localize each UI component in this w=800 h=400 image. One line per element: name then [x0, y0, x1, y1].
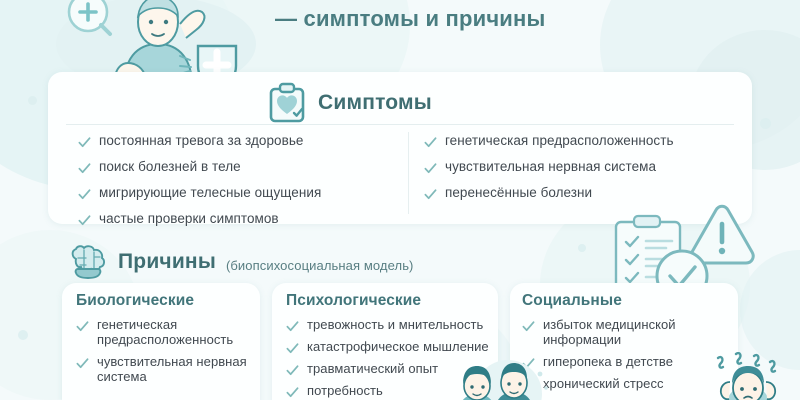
decorative-dot [28, 96, 37, 105]
list-item-label: постоянная тревога за здоровье [99, 133, 303, 149]
list-item-label: травматический опыт [307, 361, 438, 376]
causes-header: Причины (биопсихосоциальная модель) [68, 245, 414, 279]
stressed-woman-illustration [700, 352, 800, 400]
check-icon [424, 136, 437, 149]
check-icon [78, 136, 91, 149]
list-item: генетическая предрасположенность [76, 317, 256, 347]
check-icon [76, 320, 89, 333]
check-icon [286, 364, 299, 377]
list-item: перенесённые болезни [424, 185, 729, 201]
brain-icon [68, 245, 108, 279]
check-icon [76, 357, 89, 370]
symptoms-divider [66, 124, 734, 125]
list-item: генетическая предрасположенность [424, 133, 729, 149]
list-item: частые проверки симптомов [78, 211, 398, 227]
check-icon [78, 162, 91, 175]
symptoms-header: Симптомы [266, 82, 432, 124]
list-item-label: тревожность и мнительность [307, 317, 483, 332]
clipboard-heart-icon [266, 82, 308, 124]
list-item: тревожность и мнительность [286, 317, 501, 332]
column-title-biological: Биологические [76, 292, 194, 310]
list-item-label: чувствительная нервная система [445, 159, 656, 175]
check-icon [286, 342, 299, 355]
decorative-dot [578, 244, 586, 252]
list-item: чувствительная нервная система [76, 354, 256, 384]
list-item: катастрофическое мышление [286, 339, 501, 354]
decorative-dot [18, 330, 28, 340]
check-icon [424, 188, 437, 201]
symptoms-heading: Симптомы [318, 91, 432, 115]
check-icon [522, 320, 535, 333]
list-item-label: гиперопека в детстве [543, 354, 673, 369]
list-item-label: генетическая предрасположенность [445, 133, 674, 149]
column-title-psychological: Психологические [286, 292, 421, 310]
check-icon [78, 214, 91, 227]
list-item: постоянная тревога за здоровье [78, 133, 398, 149]
biological-list: генетическая предрасположенность чувстви… [76, 317, 256, 391]
check-icon [424, 162, 437, 175]
list-item-label: частые проверки симптомов [99, 211, 279, 227]
list-item-label: катастрофическое мышление [307, 339, 489, 354]
decorative-dot [760, 118, 771, 129]
causes-subheading: (биопсихосоциальная модель) [226, 258, 414, 273]
check-icon [286, 320, 299, 333]
page-title: — симптомы и причины [275, 2, 775, 36]
column-title-social: Социальные [522, 292, 622, 310]
causes-heading: Причины [118, 250, 216, 274]
symptoms-left-list: постоянная тревога за здоровье поиск бол… [78, 133, 398, 237]
symptoms-column-divider [408, 132, 409, 214]
check-icon [78, 188, 91, 201]
list-item: поиск болезней в теле [78, 159, 398, 175]
check-icon [286, 386, 299, 399]
list-item-label: хронический стресс [543, 376, 664, 391]
list-item-label: потребность [307, 383, 383, 398]
list-item: чувствительная нервная система [424, 159, 729, 175]
list-item-label: чувствительная нервная система [97, 354, 256, 384]
list-item-label: генетическая предрасположенность [97, 317, 256, 347]
list-item: мигрирующие телесные ощущения [78, 185, 398, 201]
list-item-label: перенесённые болезни [445, 185, 592, 201]
list-item: избыток медицинской информации [522, 317, 732, 347]
couple-illustration [436, 356, 556, 400]
list-item-label: мигрирующие телесные ощущения [99, 185, 321, 201]
list-item-label: поиск болезней в теле [99, 159, 241, 175]
list-item-label: избыток медицинской информации [543, 317, 732, 347]
infographic-canvas: — симптомы и причины Симптомы постоянная… [0, 0, 800, 400]
symptoms-right-list: генетическая предрасположенность чувстви… [424, 133, 729, 211]
